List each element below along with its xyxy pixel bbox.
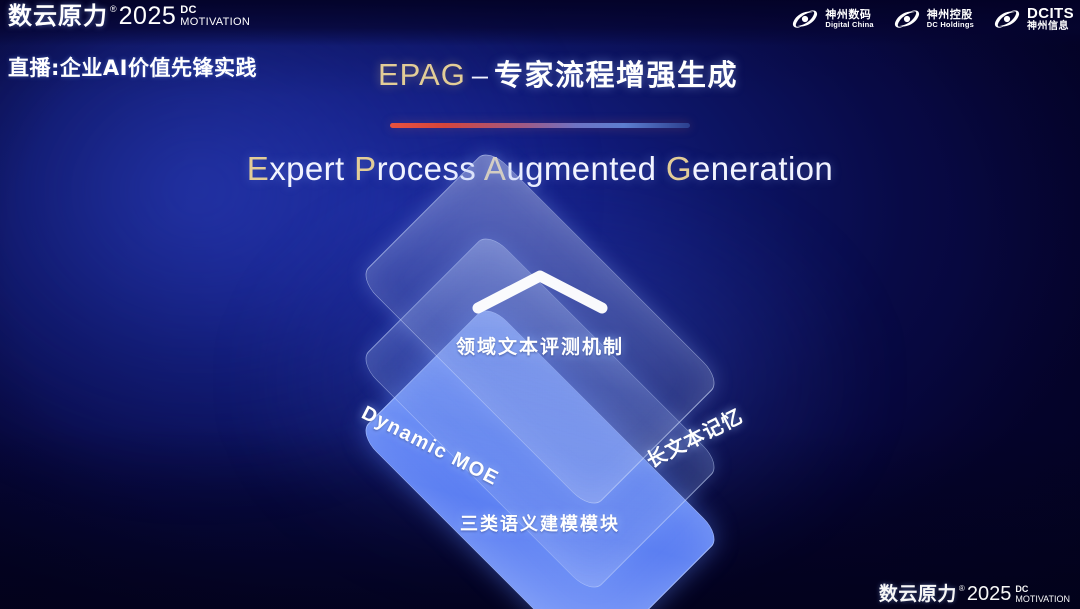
layer-stack-diagram: 领域文本评测机制 Dynamic MOE 长文本记忆 三类语义建模模块	[300, 222, 780, 562]
partner-text: DCITS 神州信息	[1027, 6, 1074, 32]
subtitle-part: G	[666, 150, 692, 187]
brand-year: 2025	[119, 2, 177, 30]
watermark-dc-line2: MOTIVATION	[1015, 595, 1070, 604]
watermark-name-cn: 数云原力	[879, 583, 957, 605]
brand-dc-line2: MOTIVATION	[180, 17, 250, 28]
brand-registered-mark: ®	[110, 3, 117, 15]
subtitle-part: eneration	[692, 150, 833, 187]
brand-logo: 数云原力 ® 2025 DC MOTIVATION	[8, 2, 250, 30]
partner-logo-group: 神州数码 Digital China 神州控股 DC Holdings	[790, 6, 1074, 32]
page-title: EPAG–专家流程增强生成	[0, 52, 1080, 94]
partner-logo-digital-china: 神州数码 Digital China	[790, 8, 873, 30]
partner-name-en: DCITS	[1027, 6, 1074, 22]
swirl-icon	[790, 8, 820, 30]
subtitle-expansion: Expert Process Augmented Generation	[0, 150, 1080, 188]
brand-dc-motivation: DC MOTIVATION	[180, 5, 250, 28]
brand-dc-line1: DC	[180, 5, 250, 16]
watermark-registered-mark: ®	[959, 584, 965, 594]
partner-logo-dcits: DCITS 神州信息	[992, 6, 1074, 32]
title-chinese: 专家流程增强生成	[494, 58, 738, 92]
title-acronym: EPAG	[378, 57, 466, 92]
swirl-icon	[892, 8, 922, 30]
title-divider	[390, 123, 690, 128]
partner-name-en: Digital China	[825, 21, 873, 29]
slide-canvas: 数云原力 ® 2025 DC MOTIVATION 直播:企业AI价值先锋实践 …	[0, 0, 1080, 609]
partner-logo-dc-holdings: 神州控股 DC Holdings	[892, 8, 974, 30]
brand-name-cn: 数云原力	[8, 2, 108, 30]
chevron-up-icon	[468, 266, 612, 316]
partner-name-en: DC Holdings	[927, 21, 974, 29]
watermark-year: 2025	[967, 583, 1012, 605]
subtitle-part: E	[247, 150, 269, 187]
partner-name-cn: 神州信息	[1027, 22, 1074, 33]
partner-text: 神州控股 DC Holdings	[927, 9, 974, 28]
watermark-dc-motivation: DC MOTIVATION	[1015, 585, 1070, 604]
footer-watermark: 数云原力 ® 2025 DC MOTIVATION	[879, 583, 1070, 605]
watermark-dc-line1: DC	[1015, 585, 1070, 594]
partner-text: 神州数码 Digital China	[825, 9, 873, 28]
swirl-icon	[992, 8, 1022, 30]
subtitle-part: ugmented	[506, 150, 666, 187]
subtitle-part: P	[354, 150, 376, 187]
subtitle-part: xpert	[269, 150, 354, 187]
title-dash: –	[472, 60, 488, 92]
